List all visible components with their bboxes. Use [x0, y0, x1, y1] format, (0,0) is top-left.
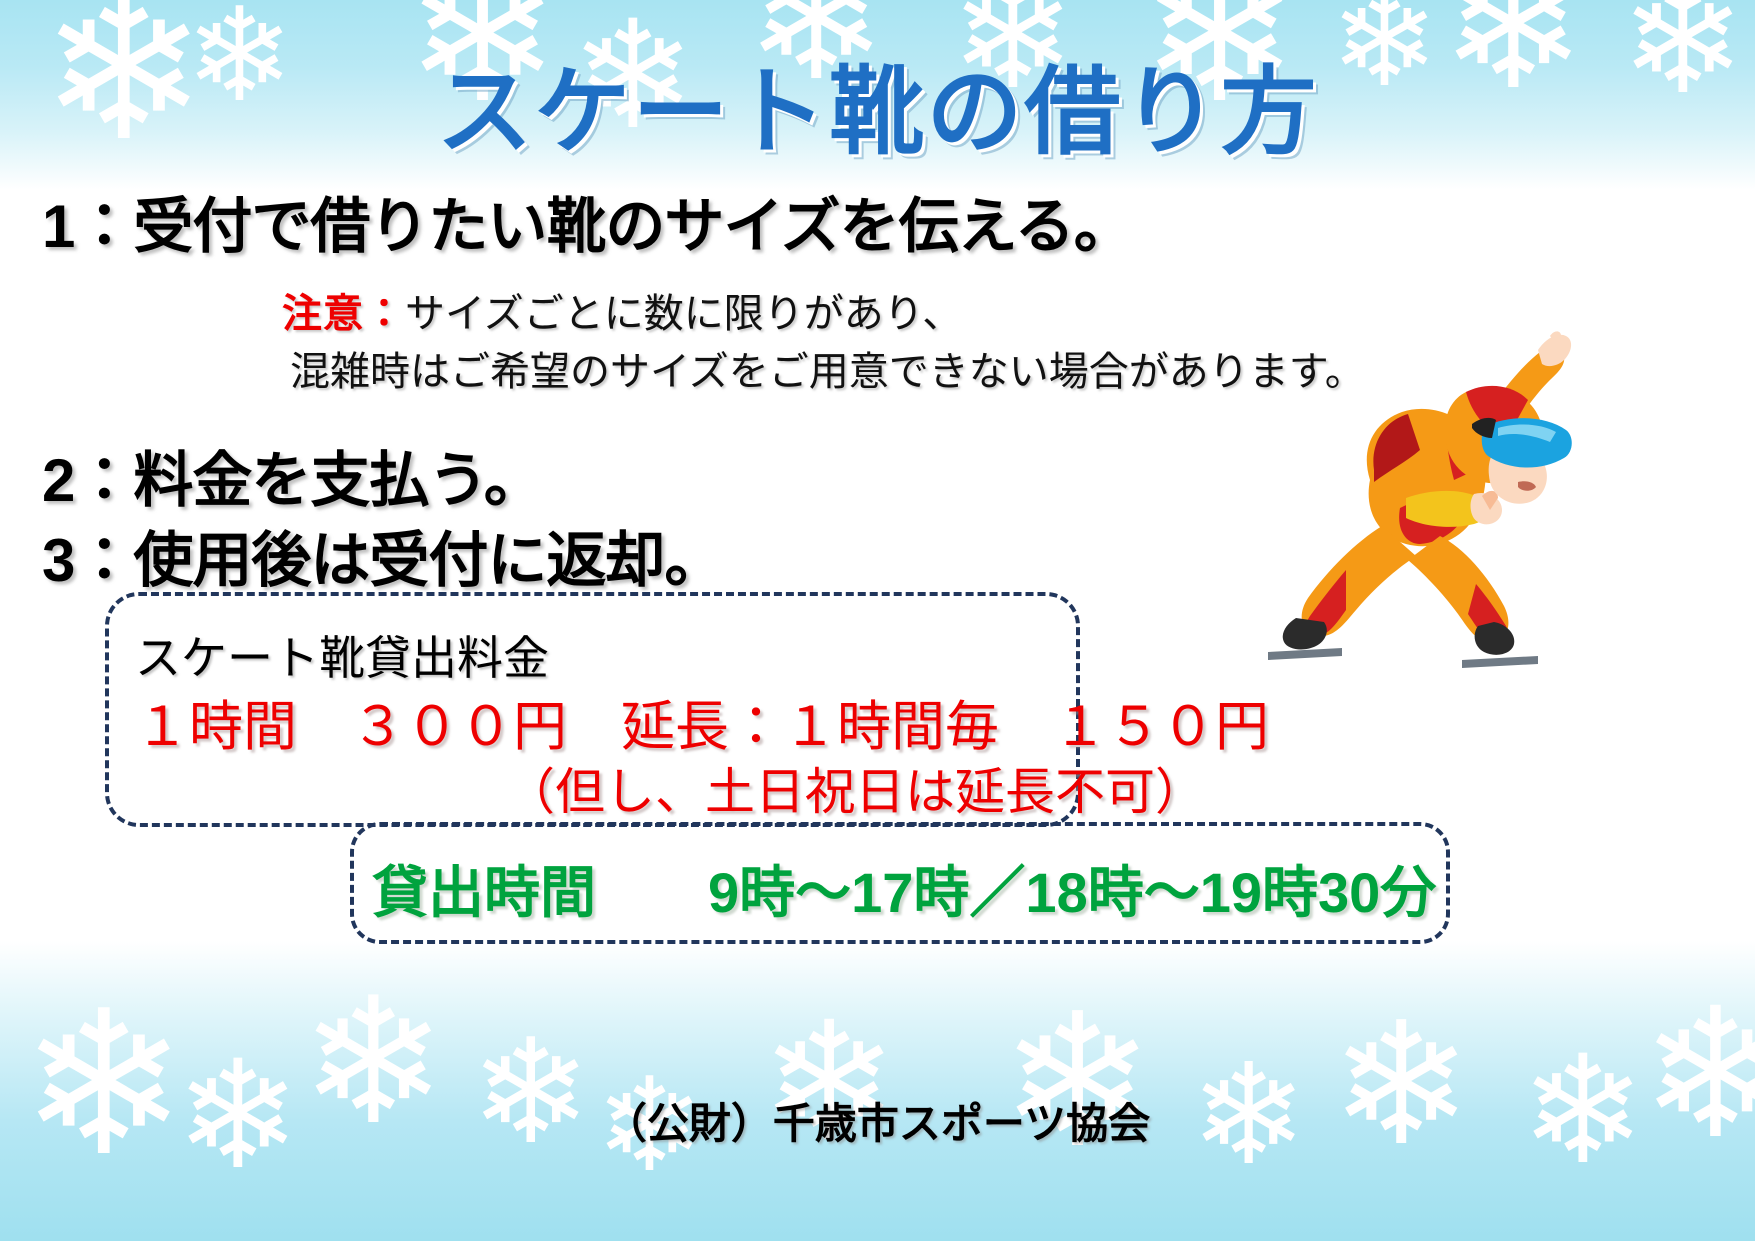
footer-organization: （公財）千歳市スポーツ協会 — [0, 1090, 1755, 1151]
step-2-text: 2：料金を支払う。 — [42, 432, 543, 519]
caution-text-1: サイズごとに数に限りがあり、 — [405, 292, 962, 336]
caution-block: 注意：サイズごとに数に限りがあり、 混雑時はご希望のサイズをご用意できない場合が… — [282, 285, 1365, 401]
hours-box-text: 貸出時間 9時〜17時／18時〜19時30分 — [372, 848, 1436, 929]
caution-line-2: 混雑時はご希望のサイズをご用意できない場合があります。 — [290, 343, 1365, 401]
caution-keyword: 注意： — [282, 292, 405, 336]
poster: ❄ ❄ ❄ ❄ ❄ ❄ ❄ ❄ ❄ ❄ ❄ ❄ ❄ ❄ ❄ ❄ ❄ ❄ ❄ ❄ … — [0, 0, 1755, 1241]
step-1-text: 1：受付で借りたい靴のサイズを伝える。 — [42, 178, 1133, 265]
snowflake-icon: ❄ — [20, 985, 188, 1185]
price-box-heading: スケート靴貸出料金 — [135, 622, 549, 688]
page-title: スケート靴の借り方 — [0, 34, 1755, 173]
price-box-main: １時間 ３００円 延長：１時間毎 １５０円 — [135, 682, 1269, 761]
caution-line-1: 注意：サイズごとに数に限りがあり、 — [282, 285, 1365, 343]
speed-skater-illustration — [1250, 330, 1600, 670]
step-3-text: 3：使用後は受付に返却。 — [42, 512, 723, 599]
price-box-note: （但し、土日祝日は延長不可） — [505, 752, 1205, 824]
